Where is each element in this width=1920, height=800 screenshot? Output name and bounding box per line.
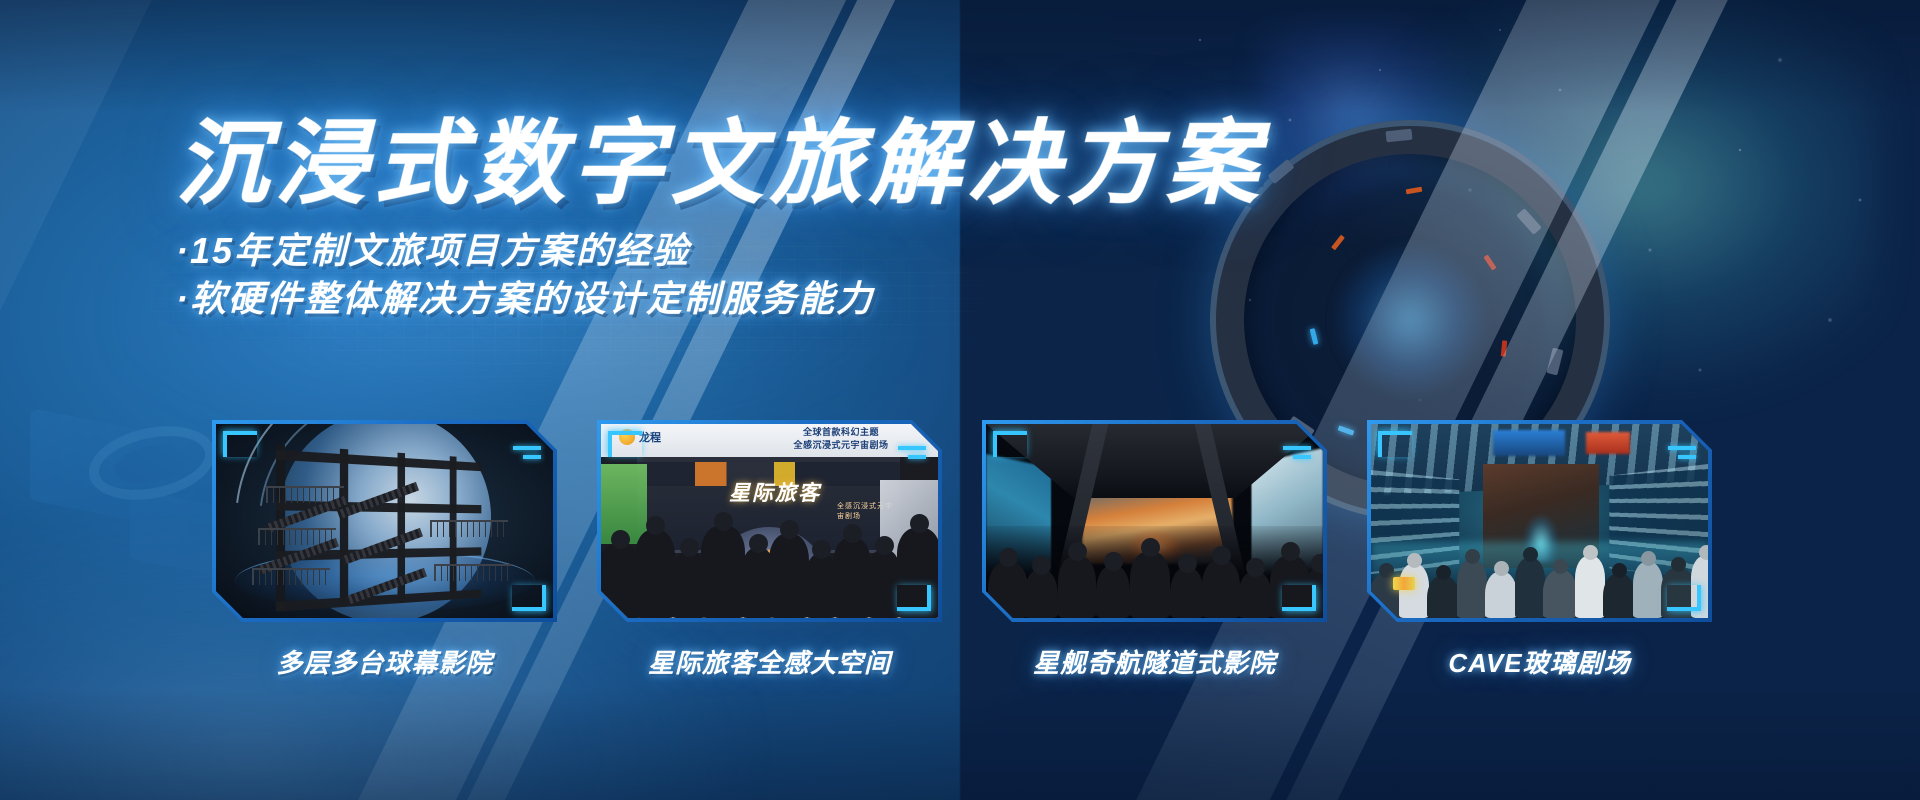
subtitle-line-1: ·15年定制文旅项目方案的经验	[176, 230, 1265, 272]
feature-card[interactable]: 龙程 全球首款科幻主题 全感沉浸式元宇宙剧场 星际旅客 全感沉浸式元宇宙剧场	[597, 420, 942, 680]
tick-marks-icon	[1283, 446, 1311, 459]
dome-theatre-artwork	[216, 424, 553, 618]
card-caption: CAVE玻璃剧场	[1367, 643, 1712, 680]
corner-bracket-icon	[223, 431, 257, 457]
cave-theatre-artwork	[1371, 424, 1708, 618]
ceiling-light-blue	[1493, 430, 1565, 456]
card-caption: 星舰奇航隧道式影院	[982, 643, 1327, 680]
corner-bracket-icon	[1282, 585, 1316, 611]
platform-railing	[252, 568, 330, 585]
page-title: 沉浸式数字文旅解决方案	[176, 118, 1265, 210]
card-image-tunnel-theatre	[986, 424, 1323, 618]
corner-bracket-icon	[897, 585, 931, 611]
exhibition-booth-artwork: 龙程 全球首款科幻主题 全感沉浸式元宇宙剧场 星际旅客 全感沉浸式元宇宙剧场	[601, 424, 938, 618]
ceiling-light-red	[1586, 432, 1630, 454]
booth-brand-name: 龙程	[639, 429, 661, 445]
feature-card[interactable]: 多层多台球幕影院	[212, 420, 557, 680]
booth-banner-line-1: 全球首款科幻主题	[751, 426, 931, 439]
tick-marks-icon	[513, 446, 541, 459]
card-image-exhibition-crowd: 龙程 全球首款科幻主题 全感沉浸式元宇宙剧场 星际旅客 全感沉浸式元宇宙剧场	[601, 424, 938, 618]
station-core-glow	[1335, 245, 1485, 395]
card-caption: 星际旅客全感大空间	[597, 643, 942, 680]
card-frame[interactable]	[982, 420, 1327, 622]
audience-silhouettes	[986, 498, 1323, 618]
card-image-dome-theatre	[216, 424, 553, 618]
feature-card-row: 多层多台球幕影院 龙程 全球首款科幻主题 全感沉浸式元宇宙剧场	[212, 420, 1712, 680]
visitor-crowd	[601, 498, 938, 618]
platform-railing	[430, 520, 508, 537]
tunnel-theatre-artwork	[986, 424, 1323, 618]
card-image-cave-theatre	[1371, 424, 1708, 618]
card-frame[interactable]	[212, 420, 557, 622]
audience-crowd	[1371, 510, 1708, 618]
subtitle-list: ·15年定制文旅项目方案的经验 ·软硬件整体解决方案的设计定制服务能力	[176, 230, 1265, 321]
corner-bracket-icon	[993, 431, 1027, 457]
feature-card[interactable]: 星舰奇航隧道式影院	[982, 420, 1327, 680]
card-frame[interactable]: 龙程 全球首款科幻主题 全感沉浸式元宇宙剧场 星际旅客 全感沉浸式元宇宙剧场	[597, 420, 942, 622]
promo-banner: 沉浸式数字文旅解决方案 ·15年定制文旅项目方案的经验 ·软硬件整体解决方案的设…	[0, 0, 1920, 800]
subtitle-line-2: ·软硬件整体解决方案的设计定制服务能力	[176, 278, 1265, 320]
tick-marks-icon	[1668, 446, 1696, 459]
platform-railing	[434, 564, 512, 581]
headline-block: 沉浸式数字文旅解决方案 ·15年定制文旅项目方案的经验 ·软硬件整体解决方案的设…	[176, 118, 1265, 321]
corner-bracket-icon	[1667, 585, 1701, 611]
feature-card[interactable]: CAVE玻璃剧场	[1367, 420, 1712, 680]
corner-bracket-icon	[1378, 431, 1412, 457]
card-caption: 多层多台球幕影院	[212, 643, 557, 680]
corner-bracket-icon	[512, 585, 546, 611]
card-frame[interactable]	[1367, 420, 1712, 622]
tick-marks-icon	[898, 446, 926, 459]
corner-bracket-icon	[608, 431, 642, 457]
phone-screen-glow	[1393, 577, 1415, 590]
